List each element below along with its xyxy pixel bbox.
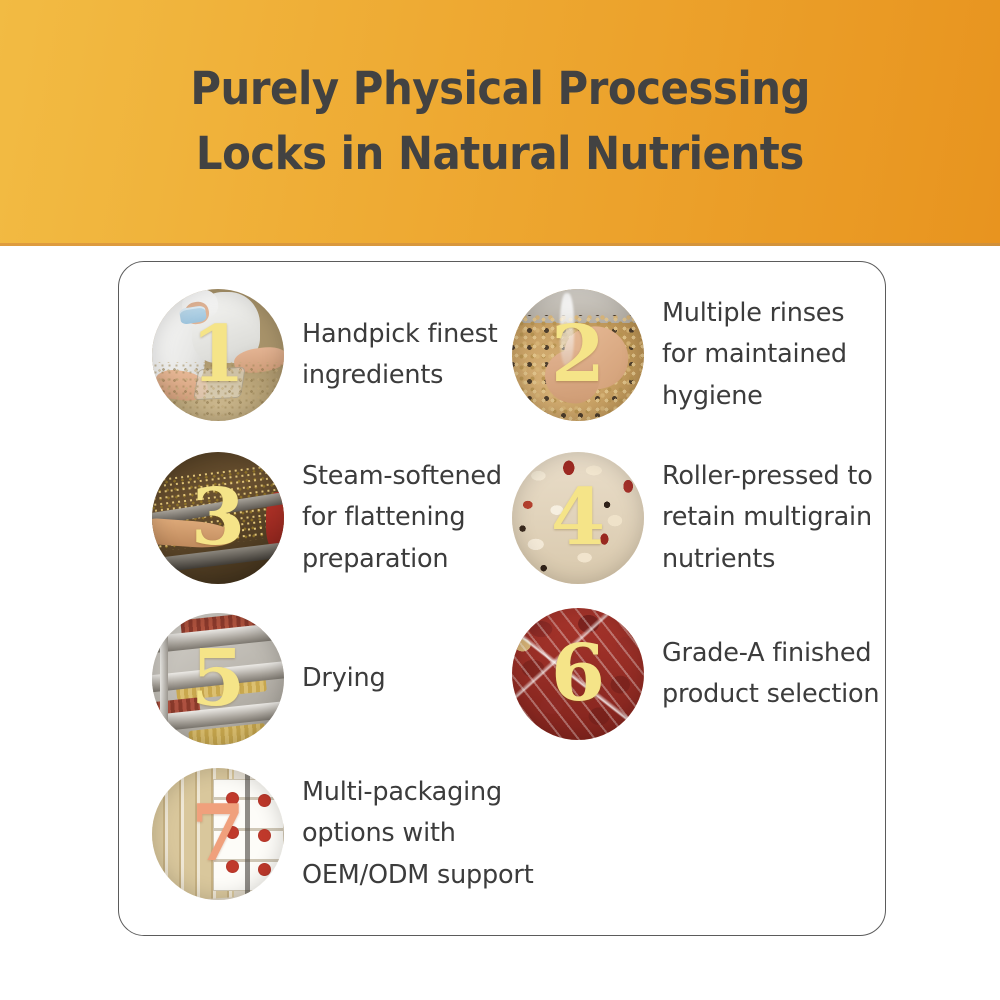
page-title-line-1: Purely Physical Processing [190,57,810,122]
process-step-5[interactable]: 5 Drying [152,613,482,745]
process-step-2[interactable]: 2 Multiple rinses for maintained hygiene [512,289,882,421]
step-3-image: 3 [152,452,284,584]
step-6-image: 6 [512,608,644,740]
header-banner: Purely Physical Processing Locks in Natu… [0,0,1000,243]
step-2-label: Multiple rinses for maintained hygiene [662,293,847,417]
step-3-label: Steam-softened for flattening preparatio… [302,456,502,580]
process-step-6[interactable]: 6 Grade-A finished product selection [512,608,892,740]
step-4-label: Roller-pressed to retain multigrain nutr… [662,456,873,580]
step-2-image: 2 [512,289,644,421]
page-title-line-2: Locks in Natural Nutrients [196,122,804,187]
process-step-4[interactable]: 4 Roller-pressed to retain multigrain nu… [512,452,892,584]
process-step-7[interactable]: 7 Multi-packaging options with OEM/ODM s… [152,768,552,900]
step-4-image: 4 [512,452,644,584]
step-4-number: 4 [512,452,644,584]
step-2-number: 2 [512,289,644,421]
step-1-image: 1 [152,289,284,421]
process-step-3[interactable]: 3 Steam-softened for flattening preparat… [152,452,512,584]
step-5-image: 5 [152,613,284,745]
step-7-number: 7 [152,768,284,900]
step-6-number: 6 [512,608,644,740]
step-1-label: Handpick finest ingredients [302,314,498,397]
step-3-number: 3 [152,452,284,584]
step-7-image: 7 [152,768,284,900]
step-5-number: 5 [152,613,284,745]
process-step-1[interactable]: 1 Handpick finest ingredients [152,289,502,421]
step-6-label: Grade-A finished product selection [662,633,879,716]
step-1-number: 1 [152,289,284,421]
step-7-label: Multi-packaging options with OEM/ODM sup… [302,772,534,896]
step-5-label: Drying [302,658,385,699]
